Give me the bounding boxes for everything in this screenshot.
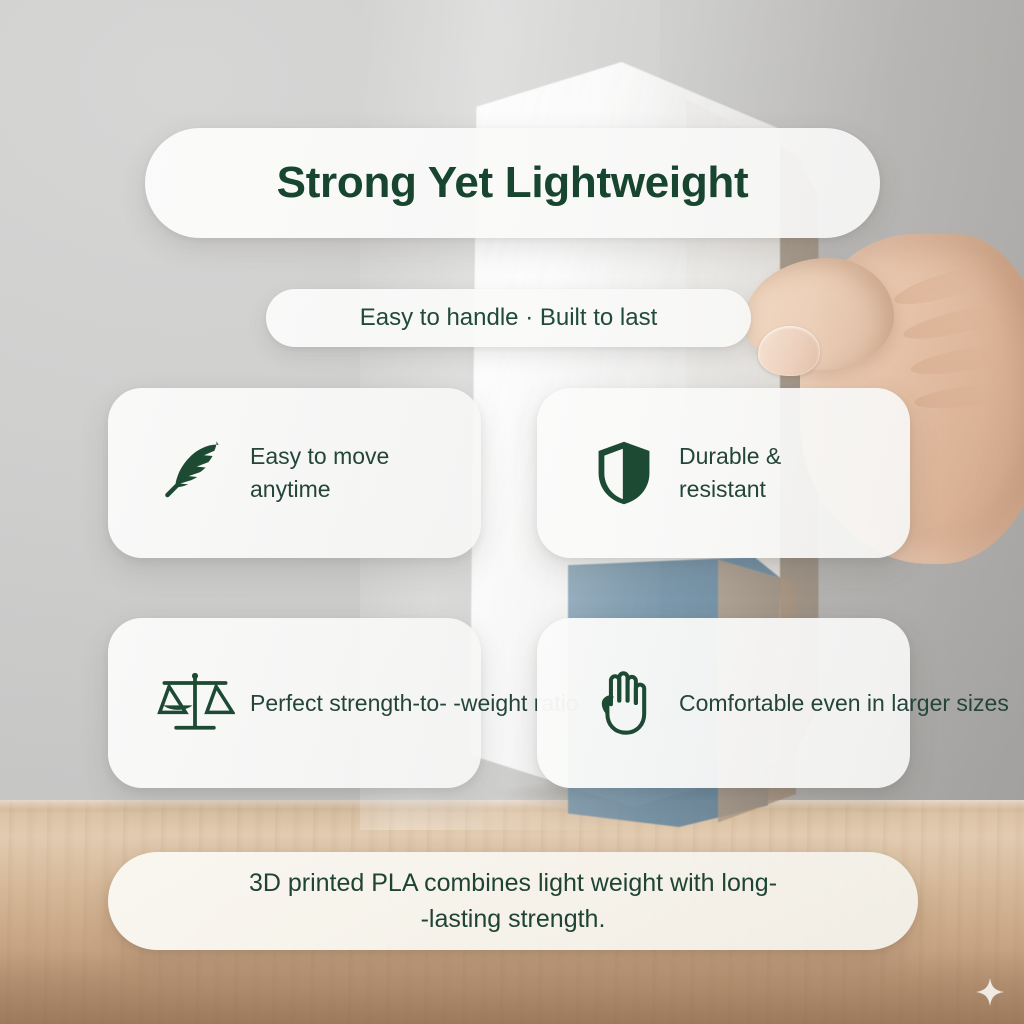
- feature-card-comfortable[interactable]: Comfortable even in larger sizes: [537, 618, 910, 788]
- feature-label: Durable & resistant: [679, 440, 781, 506]
- feather-icon: [154, 432, 236, 514]
- footer-banner: 3D printed PLA combines light weight wit…: [108, 852, 918, 950]
- sparkle-icon: [975, 977, 1005, 1007]
- thumb: [744, 258, 894, 370]
- feature-card-strength-to-weight[interactable]: Perfect strength-to- -weight ratio: [108, 618, 481, 788]
- page-subtitle: Easy to handle · Built to last: [360, 304, 658, 332]
- feature-label: Comfortable even in larger sizes: [679, 687, 1009, 720]
- feature-label: Easy to move anytime: [250, 440, 389, 506]
- subtitle-pill: Easy to handle · Built to last: [266, 289, 751, 347]
- title-pill: Strong Yet Lightweight: [145, 128, 880, 238]
- shelf-front-shadow: [0, 950, 1024, 1024]
- feature-card-easy-to-move[interactable]: Easy to move anytime: [108, 388, 481, 558]
- feature-label: Perfect strength-to- -weight ratio: [250, 687, 579, 720]
- thumbnail: [758, 326, 820, 376]
- footer-text: 3D printed PLA combines light weight wit…: [249, 865, 777, 937]
- shield-icon: [583, 432, 665, 514]
- open-hand-icon: [583, 662, 665, 744]
- feature-card-durable[interactable]: Durable & resistant: [537, 388, 910, 558]
- balance-scale-icon: [154, 662, 236, 744]
- page-title: Strong Yet Lightweight: [277, 158, 749, 208]
- infographic-canvas: Strong Yet Lightweight Easy to handle · …: [0, 0, 1024, 1024]
